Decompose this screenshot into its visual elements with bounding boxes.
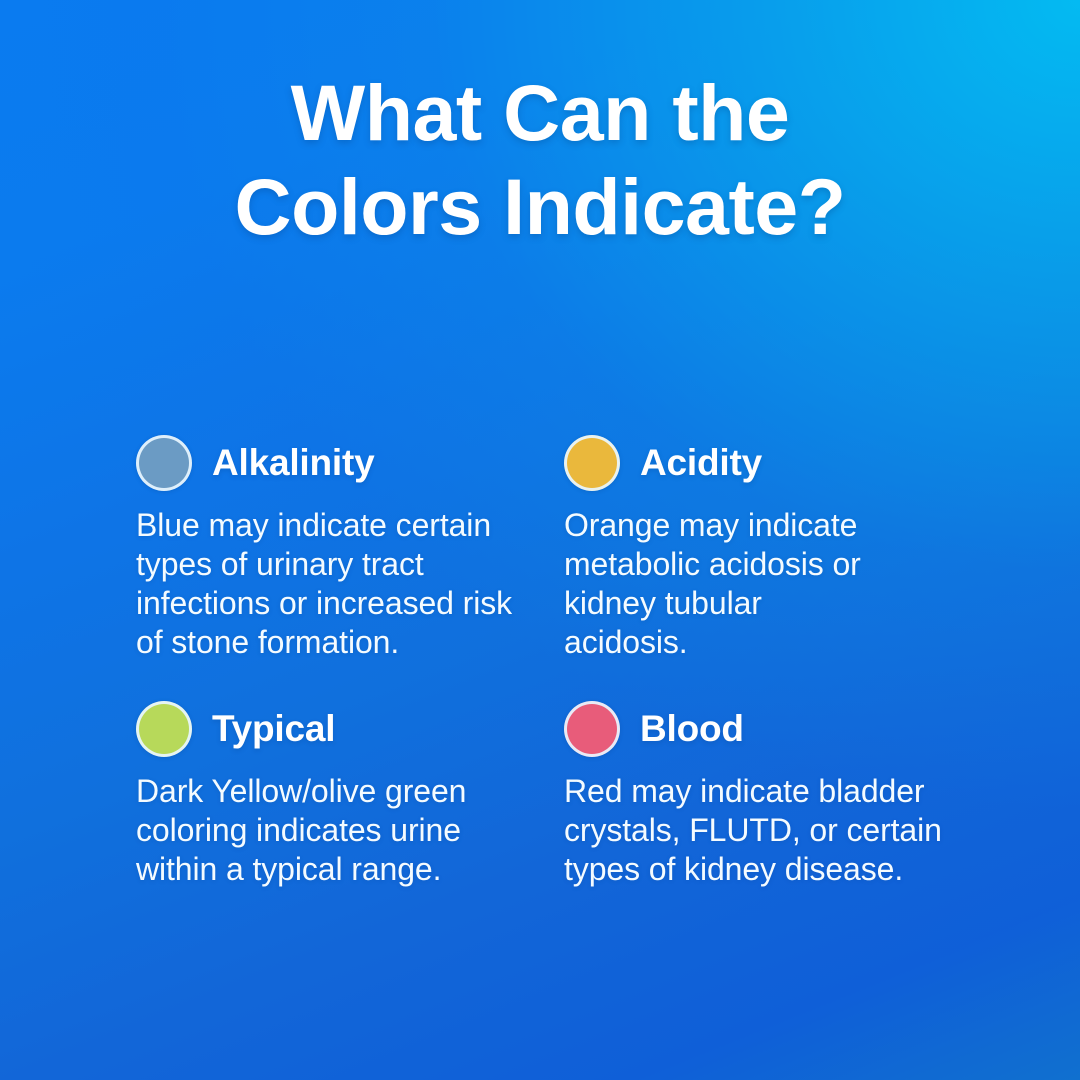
blue-gray-color-swatch (136, 435, 192, 491)
legend-item-label: Blood (640, 707, 744, 751)
legend-item-label: Acidity (640, 441, 762, 485)
legend-item-description: Blue may indicate certain types of urina… (136, 506, 528, 662)
color-legend-grid: Alkalinity Blue may indicate certain typ… (136, 432, 1016, 964)
page-title-line-1: What Can the (60, 66, 1020, 160)
legend-item-header: Typical (136, 698, 564, 760)
legend-item-header: Acidity (564, 432, 992, 494)
orange-color-swatch (564, 435, 620, 491)
olive-green-color-swatch (136, 701, 192, 757)
red-color-swatch (564, 701, 620, 757)
infographic-canvas: What Can the Colors Indicate? Alkalinity… (0, 0, 1080, 1080)
page-title: What Can the Colors Indicate? (0, 66, 1080, 254)
legend-item-description: Dark Yellow/olive green coloring indicat… (136, 772, 528, 889)
legend-item-label: Typical (212, 707, 335, 751)
legend-item-description: Red may indicate bladder crystals, FLUTD… (564, 772, 956, 889)
legend-item-label: Alkalinity (212, 441, 375, 485)
legend-item-blood: Blood Red may indicate bladder crystals,… (564, 698, 992, 964)
legend-item-alkalinity: Alkalinity Blue may indicate certain typ… (136, 432, 564, 698)
page-title-line-2: Colors Indicate? (60, 160, 1020, 254)
legend-item-header: Blood (564, 698, 992, 760)
legend-item-header: Alkalinity (136, 432, 564, 494)
legend-item-description: Orange may indicate metabolic acidosis o… (564, 506, 894, 662)
legend-item-typical: Typical Dark Yellow/olive green coloring… (136, 698, 564, 964)
legend-item-acidity: Acidity Orange may indicate metabolic ac… (564, 432, 992, 698)
